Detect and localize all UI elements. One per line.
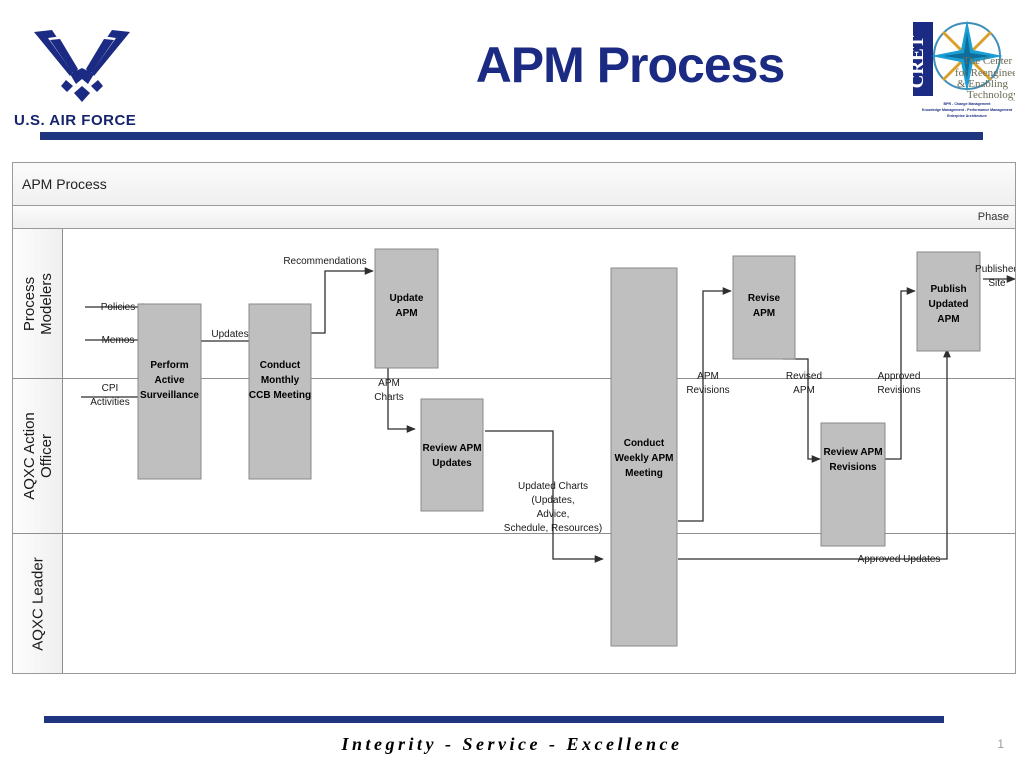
- task-label-line1: Conduct: [260, 360, 301, 371]
- task-label-line2: Updates: [432, 458, 472, 469]
- lane-header-aqxc-leader: AQXC Leader: [13, 534, 63, 673]
- svg-text:The Center: The Center: [963, 55, 1013, 67]
- flow-label-recommendations: Recommendations: [283, 256, 366, 267]
- task-label-line2: Weekly APM: [615, 453, 674, 464]
- lane-label-line1: Process: [20, 276, 37, 330]
- flow-label-updated-charts-line2: (Updates,: [531, 495, 574, 506]
- air-force-wordmark: U.S. AIR FORCE: [14, 112, 136, 129]
- task-label-line1: Review APM: [823, 447, 882, 458]
- flow-label-updated-charts-line1: Updated Charts: [518, 481, 588, 492]
- flow-label-approved-updates: Approved Updates: [858, 554, 941, 565]
- lane-header-process-modelers: Process Modelers: [13, 229, 63, 378]
- task-label-line3: CCB Meeting: [249, 390, 311, 401]
- flow-label-revised-apm-line2: APM: [793, 385, 815, 396]
- flow-label-updates: Updates: [211, 329, 248, 340]
- task-label-line2: Active: [154, 375, 184, 386]
- flow-label-revised-apm-line1: Revised: [786, 371, 822, 382]
- air-force-wings-icon: [26, 28, 138, 108]
- task-revise-apm[interactable]: Revise APM: [733, 256, 795, 359]
- task-label-line3: Meeting: [625, 468, 663, 479]
- flow-label-policies: Policies: [101, 302, 135, 313]
- task-review-apm-revisions[interactable]: Review APM Revisions: [821, 423, 885, 546]
- page-title: APM Process: [360, 36, 900, 94]
- svg-text:Enterprise Architecture: Enterprise Architecture: [947, 114, 987, 118]
- task-label-line2: Revisions: [829, 462, 877, 473]
- flow-label-memos: Memos: [102, 335, 135, 346]
- svg-text:Technology: Technology: [967, 89, 1015, 101]
- connector-apm-revisions: [678, 291, 731, 521]
- lane-label-line1: AQXC Action: [20, 412, 37, 500]
- task-label-line2: APM: [395, 308, 417, 319]
- task-publish-updated-apm[interactable]: Publish Updated APM: [917, 252, 980, 351]
- task-perform-active-surveillance[interactable]: Perform Active Surveillance: [138, 304, 201, 479]
- task-label-line3: APM: [937, 314, 959, 325]
- task-label-line1: Publish: [930, 284, 966, 295]
- flow-label-published-site-line2: Site: [988, 278, 1006, 289]
- task-label-line1: Update: [390, 293, 424, 304]
- task-label-line1: Revise: [748, 293, 781, 304]
- air-force-motto: Integrity - Service - Excellence: [0, 734, 1024, 755]
- lane-label-process-modelers: Process Modelers: [20, 273, 55, 335]
- task-label-line3: Surveillance: [140, 390, 199, 401]
- flow-label-cpi-activities-line1: CPI: [102, 383, 119, 394]
- lane-label-aqxc-leader: AQXC Leader: [29, 557, 46, 650]
- lane-label-line1: AQXC Leader: [29, 557, 46, 650]
- flow-label-approved-revisions-line1: Approved: [878, 371, 921, 382]
- phase-label: Phase: [978, 211, 1009, 223]
- svg-text:CRET: CRET: [907, 35, 928, 88]
- flow-label-updated-charts-line3: Advice,: [537, 509, 570, 520]
- cret-compass-icon: CRET The Center for Reengineering & Enab…: [905, 18, 1015, 122]
- task-conduct-weekly-apm-meeting[interactable]: Conduct Weekly APM Meeting: [611, 268, 677, 646]
- footer-divider: [44, 716, 944, 723]
- task-label-line1: Review APM: [422, 443, 481, 454]
- flow-label-approved-revisions-line2: Revisions: [877, 385, 920, 396]
- phase-header-row: Phase: [13, 206, 1015, 229]
- task-conduct-monthly-ccb-meeting[interactable]: Conduct Monthly CCB Meeting: [249, 304, 311, 479]
- flow-label-updated-charts-line4: Schedule, Resources): [504, 523, 602, 534]
- task-label-line2: Updated: [929, 299, 969, 310]
- flow-label-apm-charts-line2: Charts: [374, 392, 403, 403]
- lane-label-aqxc-action-officer: AQXC Action Officer: [20, 412, 55, 500]
- svg-text:Knowledge Management - Perfo: Knowledge Management - Performance Manag…: [922, 108, 1013, 112]
- flow-label-apm-charts-line1: APM: [378, 378, 400, 389]
- flow-label-apm-revisions-line2: Revisions: [686, 385, 729, 396]
- slide-header: U.S. AIR FORCE APM Process CRET The Cent…: [0, 0, 1024, 146]
- lane-label-line2: Modelers: [38, 273, 55, 335]
- flow-label-published-site-line1: Published: [975, 264, 1015, 275]
- svg-text:BPR - Change Management: BPR - Change Management: [944, 102, 992, 106]
- task-review-apm-updates[interactable]: Review APM Updates: [421, 399, 483, 511]
- task-label-line2: APM: [753, 308, 775, 319]
- task-update-apm[interactable]: Update APM: [375, 249, 438, 368]
- task-boxes: Perform Active Surveillance Conduct Mont…: [138, 249, 980, 646]
- page-number: 1: [997, 737, 1004, 751]
- lane-label-line2: Officer: [38, 434, 55, 478]
- lane-header-aqxc-action-officer: AQXC Action Officer: [13, 379, 63, 533]
- pool-title-label: APM Process: [22, 176, 107, 192]
- process-flow-canvas: Perform Active Surveillance Conduct Mont…: [63, 229, 1015, 673]
- flow-label-cpi-activities-line2: Activities: [90, 397, 129, 408]
- task-label-line1: Perform: [150, 360, 188, 371]
- task-label-line2: Monthly: [261, 375, 300, 386]
- task-label-line1: Conduct: [624, 438, 665, 449]
- pool-title-bar: APM Process: [13, 163, 1015, 206]
- header-divider: [40, 132, 983, 140]
- swimlane-diagram: APM Process Phase Process Modelers AQXC …: [12, 162, 1016, 674]
- flow-label-apm-revisions-line1: APM: [697, 371, 719, 382]
